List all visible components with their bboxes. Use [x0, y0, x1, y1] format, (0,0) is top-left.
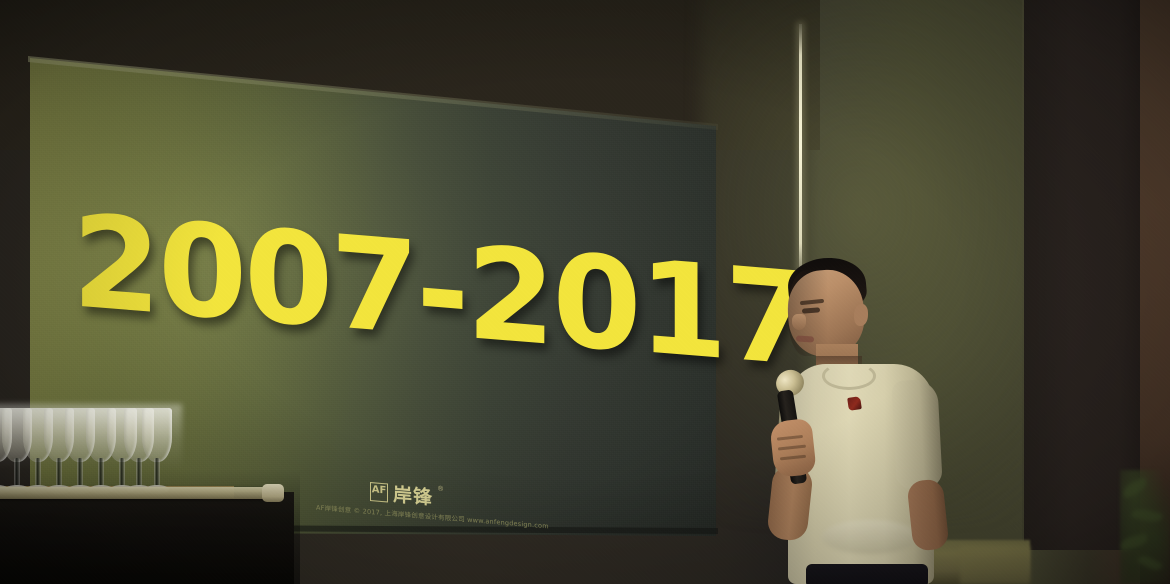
photo-scene: 2007-2017 AF 岸锋 ® AF岸锋创意 © 2017, 上海岸锋创意设… — [0, 0, 1170, 584]
led-light-strip — [799, 24, 802, 282]
speaker-nose — [792, 314, 806, 330]
trademark-symbol: ® — [438, 486, 443, 493]
brand-mark-icon: AF — [370, 482, 388, 502]
speaker-ear — [854, 304, 868, 326]
foreground-shadow — [0, 470, 300, 584]
shirt-sleeve-right — [891, 379, 943, 489]
speaker-trousers — [806, 564, 928, 584]
speaker-hand — [769, 418, 817, 478]
speaker-arm-right — [906, 478, 949, 551]
speaker-mouth — [796, 335, 814, 342]
structural-pillar — [1024, 0, 1142, 550]
speaker-figure — [744, 252, 974, 584]
shirt-chest-emblem — [847, 396, 862, 411]
plant-foliage — [1120, 470, 1170, 584]
shirt-collar — [822, 362, 876, 390]
shirt-fold — [822, 520, 918, 554]
brand-wordmark: 岸锋 — [393, 480, 433, 510]
